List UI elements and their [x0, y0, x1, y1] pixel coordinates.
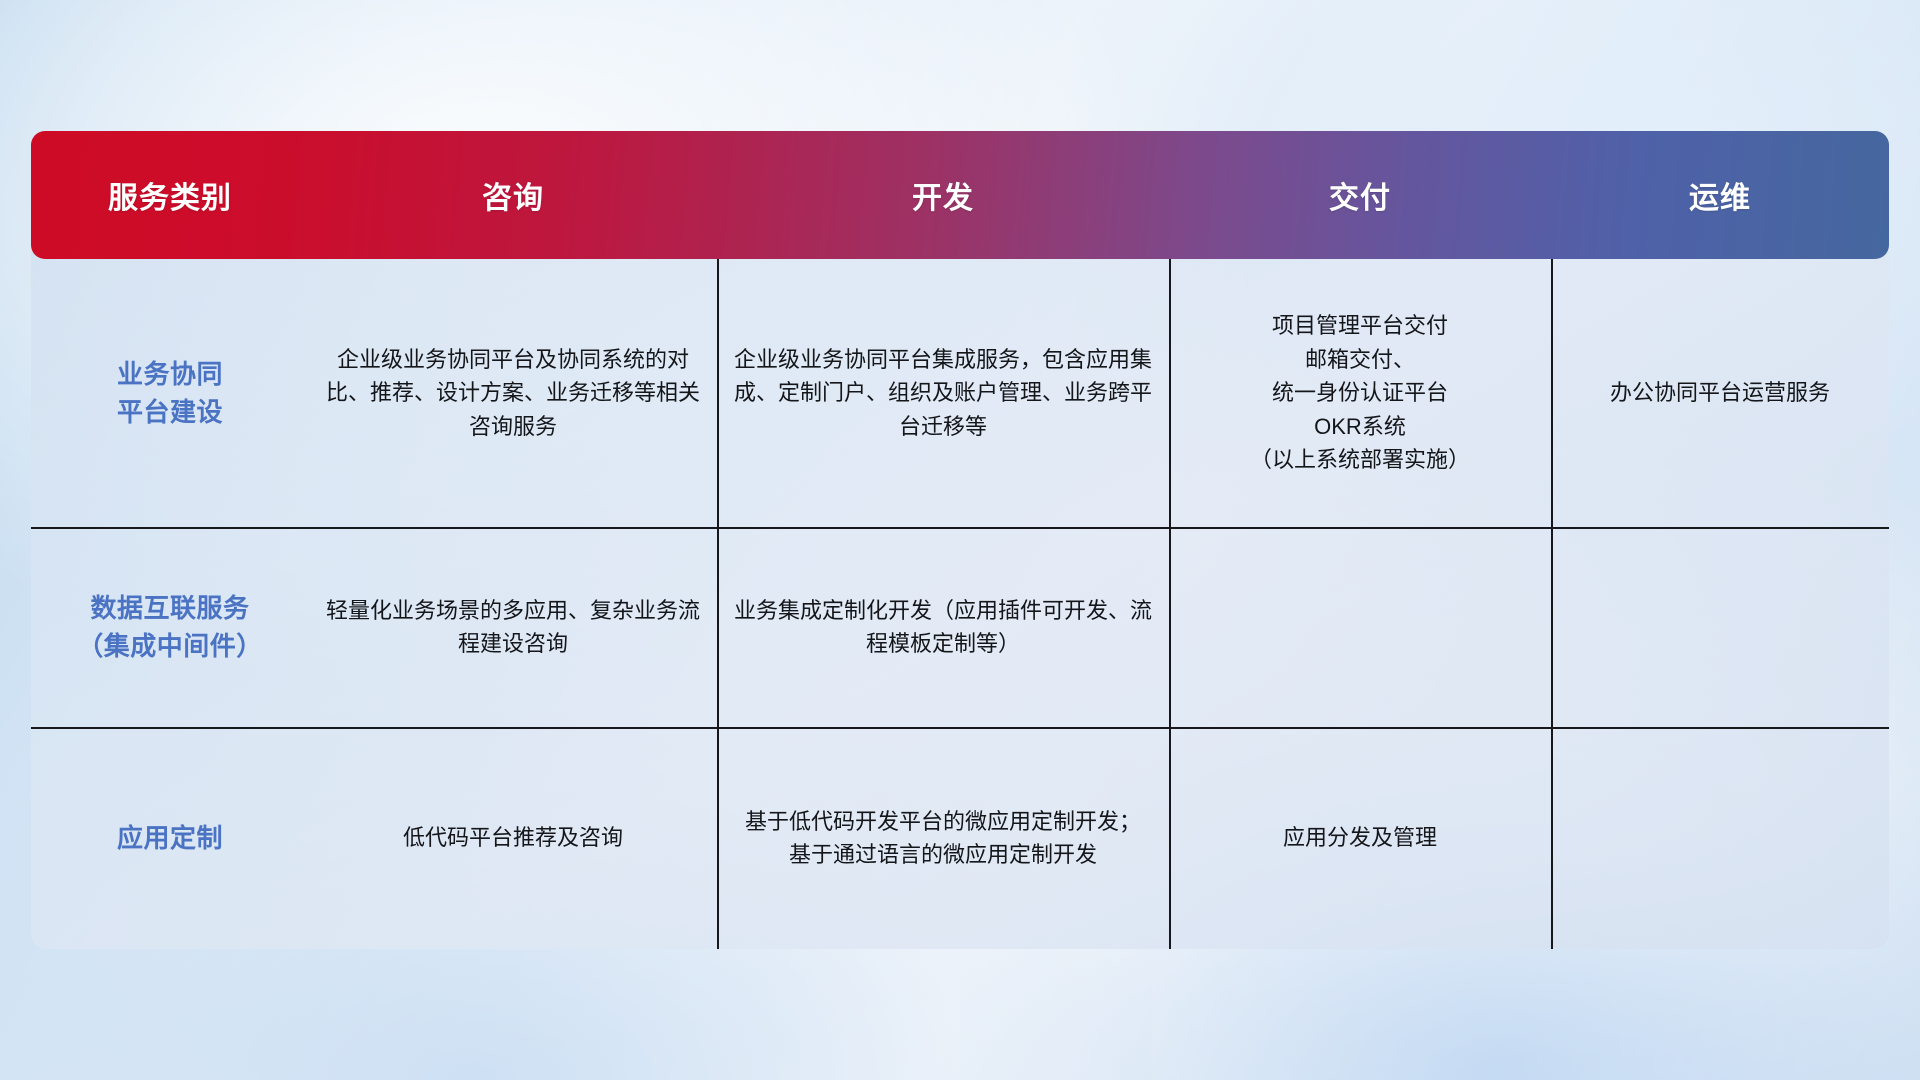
row-2-delivery-cell[interactable]	[1169, 527, 1551, 727]
row-3-consulting-text: 低代码平台推荐及咨询	[403, 821, 623, 854]
row-3-delivery-text: 应用分发及管理	[1283, 821, 1437, 854]
row-3-consulting-cell[interactable]: 低代码平台推荐及咨询	[309, 727, 717, 949]
table-body: 业务协同 平台建设 企业级业务协同平台及协同系统的对比、推荐、设计方案、业务迁移…	[31, 259, 1889, 949]
row-3-development-cell[interactable]: 基于低代码开发平台的微应用定制开发； 基于通过语言的微应用定制开发	[717, 727, 1169, 949]
column-header-operations[interactable]: 运维	[1551, 173, 1889, 217]
row-2-consulting-cell[interactable]: 轻量化业务场景的多应用、复杂业务流程建设咨询	[309, 527, 717, 727]
row-1-delivery-text: 项目管理平台交付 邮箱交付、 统一身份认证平台 OKR系统 （以上系统部署实施）	[1250, 309, 1470, 476]
column-divider-development-delivery	[1169, 259, 1171, 949]
column-header-development[interactable]: 开发	[717, 173, 1169, 217]
row-3-operations-cell[interactable]	[1551, 727, 1889, 949]
row-2-category-cell[interactable]: 数据互联服务 （集成中间件）	[31, 527, 309, 727]
row-1-operations-cell[interactable]: 办公协同平台运营服务	[1551, 259, 1889, 527]
row-divider-1	[31, 527, 1889, 529]
row-3-delivery-cell[interactable]: 应用分发及管理	[1169, 727, 1551, 949]
row-3-development-text: 基于低代码开发平台的微应用定制开发； 基于通过语言的微应用定制开发	[745, 805, 1141, 872]
column-divider-delivery-operations	[1551, 259, 1553, 949]
row-1-category-label: 业务协同 平台建设	[117, 355, 223, 432]
row-1-consulting-text: 企业级业务协同平台及协同系统的对比、推荐、设计方案、业务迁移等相关咨询服务	[323, 343, 703, 443]
row-2-development-text: 业务集成定制化开发（应用插件可开发、流程模板定制等）	[731, 594, 1155, 661]
row-1-operations-text: 办公协同平台运营服务	[1610, 376, 1830, 409]
service-matrix-card: 服务类别 咨询 开发 交付 运维 业务协同 平台建设 企业级业务协同平台及协同系…	[31, 131, 1889, 949]
table-header-bar: 服务类别 咨询 开发 交付 运维	[31, 131, 1889, 259]
column-header-delivery[interactable]: 交付	[1169, 173, 1551, 217]
row-1-development-cell[interactable]: 企业级业务协同平台集成服务，包含应用集成、定制门户、组织及账户管理、业务跨平台迁…	[717, 259, 1169, 527]
row-1-consulting-cell[interactable]: 企业级业务协同平台及协同系统的对比、推荐、设计方案、业务迁移等相关咨询服务	[309, 259, 717, 527]
row-2-development-cell[interactable]: 业务集成定制化开发（应用插件可开发、流程模板定制等）	[717, 527, 1169, 727]
row-3-category-cell[interactable]: 应用定制	[31, 727, 309, 949]
table-row: 业务协同 平台建设 企业级业务协同平台及协同系统的对比、推荐、设计方案、业务迁移…	[31, 259, 1889, 527]
row-1-category-cell[interactable]: 业务协同 平台建设	[31, 259, 309, 527]
row-2-consulting-text: 轻量化业务场景的多应用、复杂业务流程建设咨询	[323, 594, 703, 661]
row-2-category-label: 数据互联服务 （集成中间件）	[77, 589, 263, 666]
row-1-delivery-cell[interactable]: 项目管理平台交付 邮箱交付、 统一身份认证平台 OKR系统 （以上系统部署实施）	[1169, 259, 1551, 527]
row-3-category-label: 应用定制	[117, 819, 223, 857]
table-row: 数据互联服务 （集成中间件） 轻量化业务场景的多应用、复杂业务流程建设咨询 业务…	[31, 527, 1889, 727]
row-2-operations-cell[interactable]	[1551, 527, 1889, 727]
column-header-category[interactable]: 服务类别	[31, 173, 309, 217]
table-row: 应用定制 低代码平台推荐及咨询 基于低代码开发平台的微应用定制开发； 基于通过语…	[31, 727, 1889, 949]
row-divider-2	[31, 727, 1889, 729]
row-1-development-text: 企业级业务协同平台集成服务，包含应用集成、定制门户、组织及账户管理、业务跨平台迁…	[731, 343, 1155, 443]
column-divider-consulting-development	[717, 259, 719, 949]
column-header-consulting[interactable]: 咨询	[309, 173, 717, 217]
header-cell-row: 服务类别 咨询 开发 交付 运维	[31, 131, 1889, 259]
